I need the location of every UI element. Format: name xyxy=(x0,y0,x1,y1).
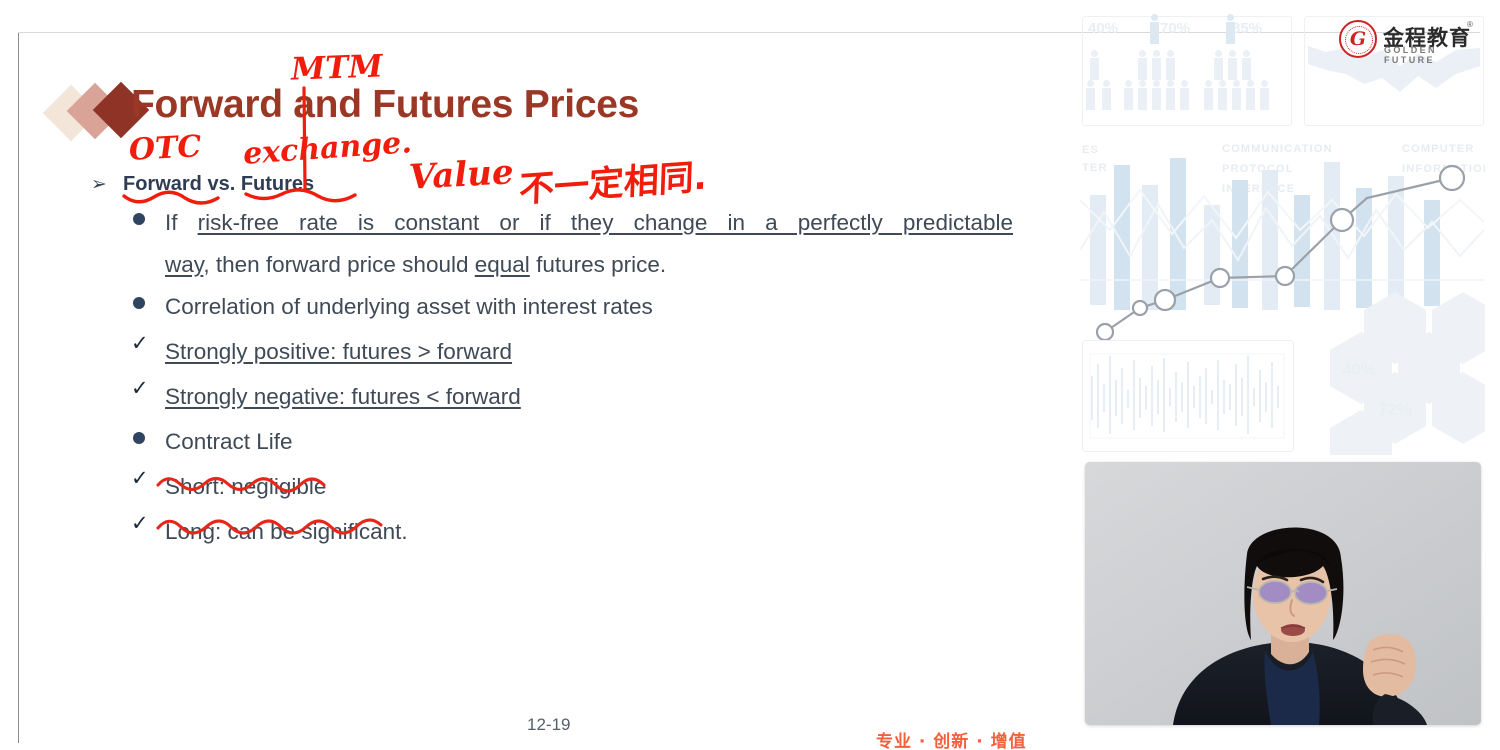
slide-body: ➢ Forward vs. Futures If risk-free rate … xyxy=(79,173,1079,556)
check-bullet-icon: ✓ xyxy=(131,513,149,534)
hexagon-shape xyxy=(1330,428,1392,455)
decorative-infographic-panel: 40% 70% 85% ES TER COMMUNICATION PROT xyxy=(1080,10,1485,455)
list-item-line: If risk-free rate is constant or if they… xyxy=(165,202,1013,244)
list-item-label: Strongly negative: futures < forward xyxy=(165,376,1079,418)
list-item: ✓ Strongly positive: futures > forward xyxy=(79,331,1079,373)
list-item: ✓ Strongly negative: futures < forward xyxy=(79,376,1079,418)
gfx-word: COMPUTER xyxy=(1402,143,1475,155)
page-title: Forward and Futures Prices xyxy=(131,83,639,127)
hexagon-shape xyxy=(1432,310,1485,346)
list-item-label: Correlation of underlying asset with int… xyxy=(165,286,1079,328)
gfx-word: COMMUNICATION xyxy=(1222,143,1333,155)
check-bullet-icon: ✓ xyxy=(131,378,149,399)
list-item: If risk-free rate is constant or if they… xyxy=(79,202,1079,286)
brand-logo: G 金程教育 GOLDEN FUTURE ® xyxy=(1339,20,1479,60)
page-number: 12-19 xyxy=(527,715,570,735)
annotation-exchange: exchange. xyxy=(242,125,413,172)
hexagon-shape xyxy=(1432,390,1485,426)
list-item-label: Long: can be significant. xyxy=(165,511,1079,553)
pictogram-percent: 85% xyxy=(1232,20,1262,37)
dot-bullet-icon xyxy=(133,432,145,444)
screen: Forward and Futures Prices ➢ Forward vs.… xyxy=(0,0,1500,750)
list-item: ✓ Long: can be significant. xyxy=(79,511,1079,553)
waveform-bars xyxy=(1088,350,1286,442)
brand-tagline: 专业 · 创新 · 增值 xyxy=(876,727,1027,750)
dot-bullet-icon xyxy=(133,297,145,309)
seal-letter: G xyxy=(1339,20,1377,58)
hexagon-label: 72% xyxy=(1378,400,1412,420)
gfx-word: ES xyxy=(1082,144,1099,156)
logo-english-name: GOLDEN FUTURE xyxy=(1384,45,1479,65)
section-heading-label: Forward vs. Futures xyxy=(123,173,314,195)
hexagon-label: 40% xyxy=(1342,360,1376,380)
pictogram-percent: 70% xyxy=(1160,20,1190,37)
list-item: Correlation of underlying asset with int… xyxy=(79,286,1079,328)
list-item-label: Short: negligible xyxy=(165,466,1079,508)
annotation-mtm: MTM xyxy=(290,48,383,87)
list-item: Contract Life xyxy=(79,421,1079,463)
registered-mark: ® xyxy=(1467,20,1473,29)
list-item-label: Strongly positive: futures > forward xyxy=(165,331,1079,373)
list-item-line: way, then forward price should equal fut… xyxy=(165,244,1079,286)
list-item-label: Contract Life xyxy=(165,421,1079,463)
pictogram-percent: 40% xyxy=(1088,20,1118,37)
instructor-portrait xyxy=(1085,462,1481,725)
check-bullet-icon: ✓ xyxy=(131,468,149,489)
instructor-video-feed[interactable] xyxy=(1085,462,1481,725)
section-heading: ➢ Forward vs. Futures xyxy=(79,173,1079,196)
list-item: ✓ Short: negligible xyxy=(79,466,1079,508)
arrow-bullet-icon: ➢ xyxy=(91,173,107,196)
check-bullet-icon: ✓ xyxy=(131,333,149,354)
dot-bullet-icon xyxy=(133,213,145,225)
